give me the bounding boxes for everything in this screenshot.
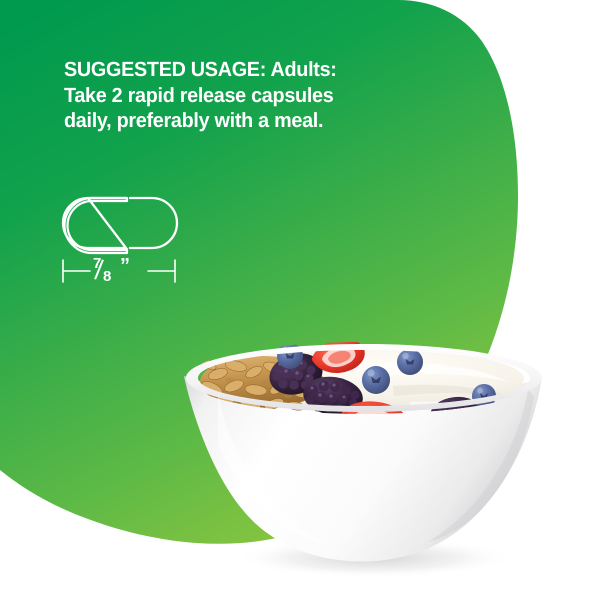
- product-usage-panel: SUGGESTED USAGE: Adults: Take 2 rapid re…: [0, 0, 600, 600]
- blueberry: [362, 366, 390, 394]
- suggested-usage-text: SUGGESTED USAGE: Adults: Take 2 rapid re…: [64, 57, 411, 134]
- capsule-dimension-label: 7 8 ”: [93, 258, 130, 282]
- capsule-size-diagram: [60, 188, 260, 298]
- yogurt-bowl-image: [178, 352, 550, 584]
- fraction-denominator: 8: [103, 269, 111, 284]
- fraction-seven-eighths: 7 8: [93, 258, 119, 282]
- inch-mark: ”: [120, 258, 130, 275]
- blueberry: [397, 349, 423, 375]
